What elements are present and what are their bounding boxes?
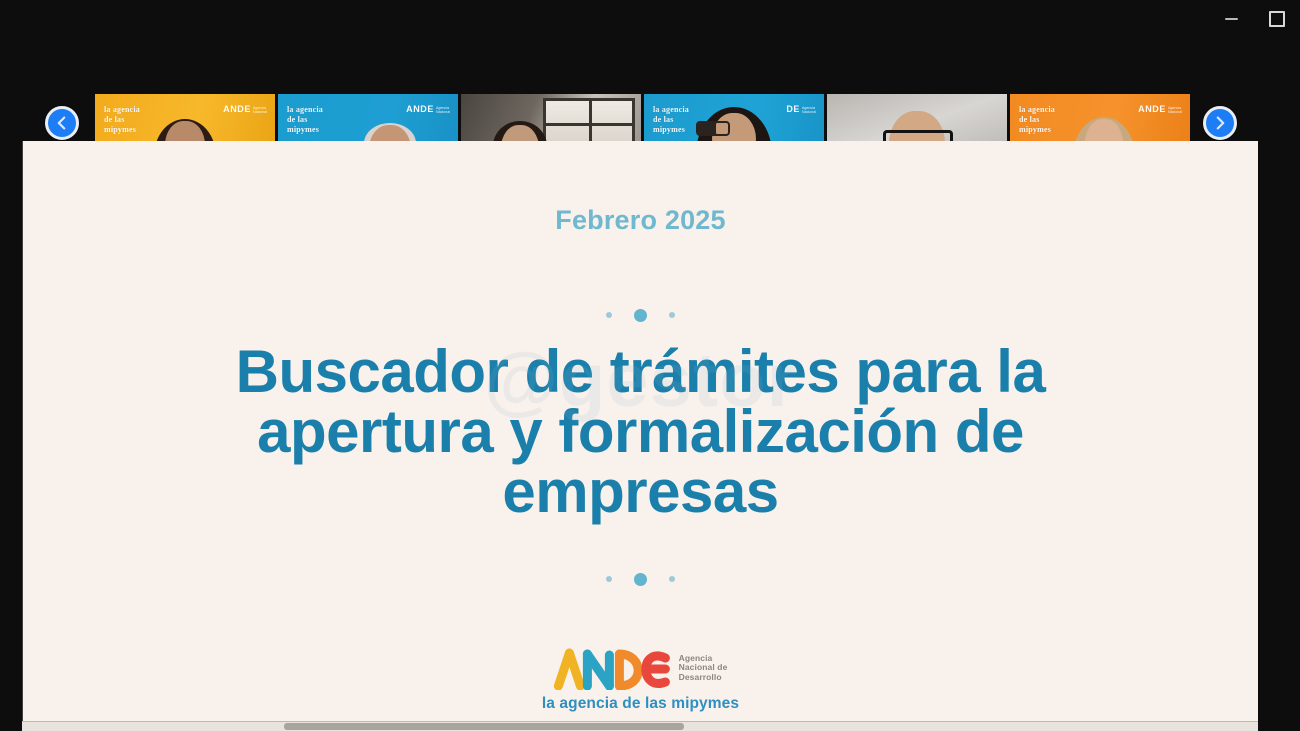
shared-screen-area[interactable]: @gestor Febrero 2025 Buscador de trámite… (22, 141, 1258, 721)
presentation-slide: @gestor Febrero 2025 Buscador de trámite… (23, 141, 1258, 721)
ande-wordmark (554, 646, 672, 690)
slide-title: Buscador de trámites para la apertura y … (161, 342, 1121, 522)
tile-brand-logo: ANDEAgenciaNacional (406, 104, 450, 114)
slide-date: Febrero 2025 (555, 205, 726, 236)
ande-subtitle: la agencia de las mipymes (542, 695, 739, 713)
slide-dots-bottom (606, 570, 675, 588)
ande-tagline: Agencia Nacional de Desarrollo (679, 654, 728, 683)
slide-dots-top (606, 306, 675, 324)
participant-filmstrip: la agenciade lasmipymes ANDEAgenciaNacio… (0, 47, 1300, 142)
window-titlebar (0, 0, 1300, 38)
filmstrip-next-button[interactable] (1203, 106, 1237, 140)
dot-large-center (634, 573, 647, 586)
dot-small-right (669, 576, 675, 582)
tile-brand-text: la agenciade lasmipymes (1019, 105, 1055, 135)
horizontal-scrollbar[interactable] (22, 721, 1258, 731)
tile-brand-text: la agenciade lasmipymes (287, 105, 323, 135)
meeting-window: la agenciade lasmipymes ANDEAgenciaNacio… (0, 0, 1300, 731)
glasses-decor (696, 121, 730, 136)
filmstrip-prev-button[interactable] (45, 106, 79, 140)
tile-brand-logo: DEAgenciaNacional (786, 104, 816, 114)
minimize-icon[interactable] (1208, 0, 1254, 38)
maximize-icon[interactable] (1254, 0, 1300, 38)
scrollbar-thumb[interactable] (284, 723, 684, 730)
tile-brand-text: la agenciade lasmipymes (104, 105, 140, 135)
chevron-left-icon (54, 115, 70, 131)
ande-letters-icon (554, 646, 672, 690)
ande-logo: Agencia Nacional de Desarrollo la agenci… (542, 646, 739, 713)
chevron-right-icon (1212, 115, 1228, 131)
tile-brand-logo: ANDEAgenciaNacional (223, 104, 267, 114)
window-controls (1208, 0, 1300, 38)
dot-small-left (606, 312, 612, 318)
dot-small-right (669, 312, 675, 318)
tile-brand-logo: ANDEAgenciaNacional (1138, 104, 1182, 114)
dot-large-center (634, 309, 647, 322)
tile-brand-text: la agenciade lasmipymes (653, 105, 689, 135)
dot-small-left (606, 576, 612, 582)
